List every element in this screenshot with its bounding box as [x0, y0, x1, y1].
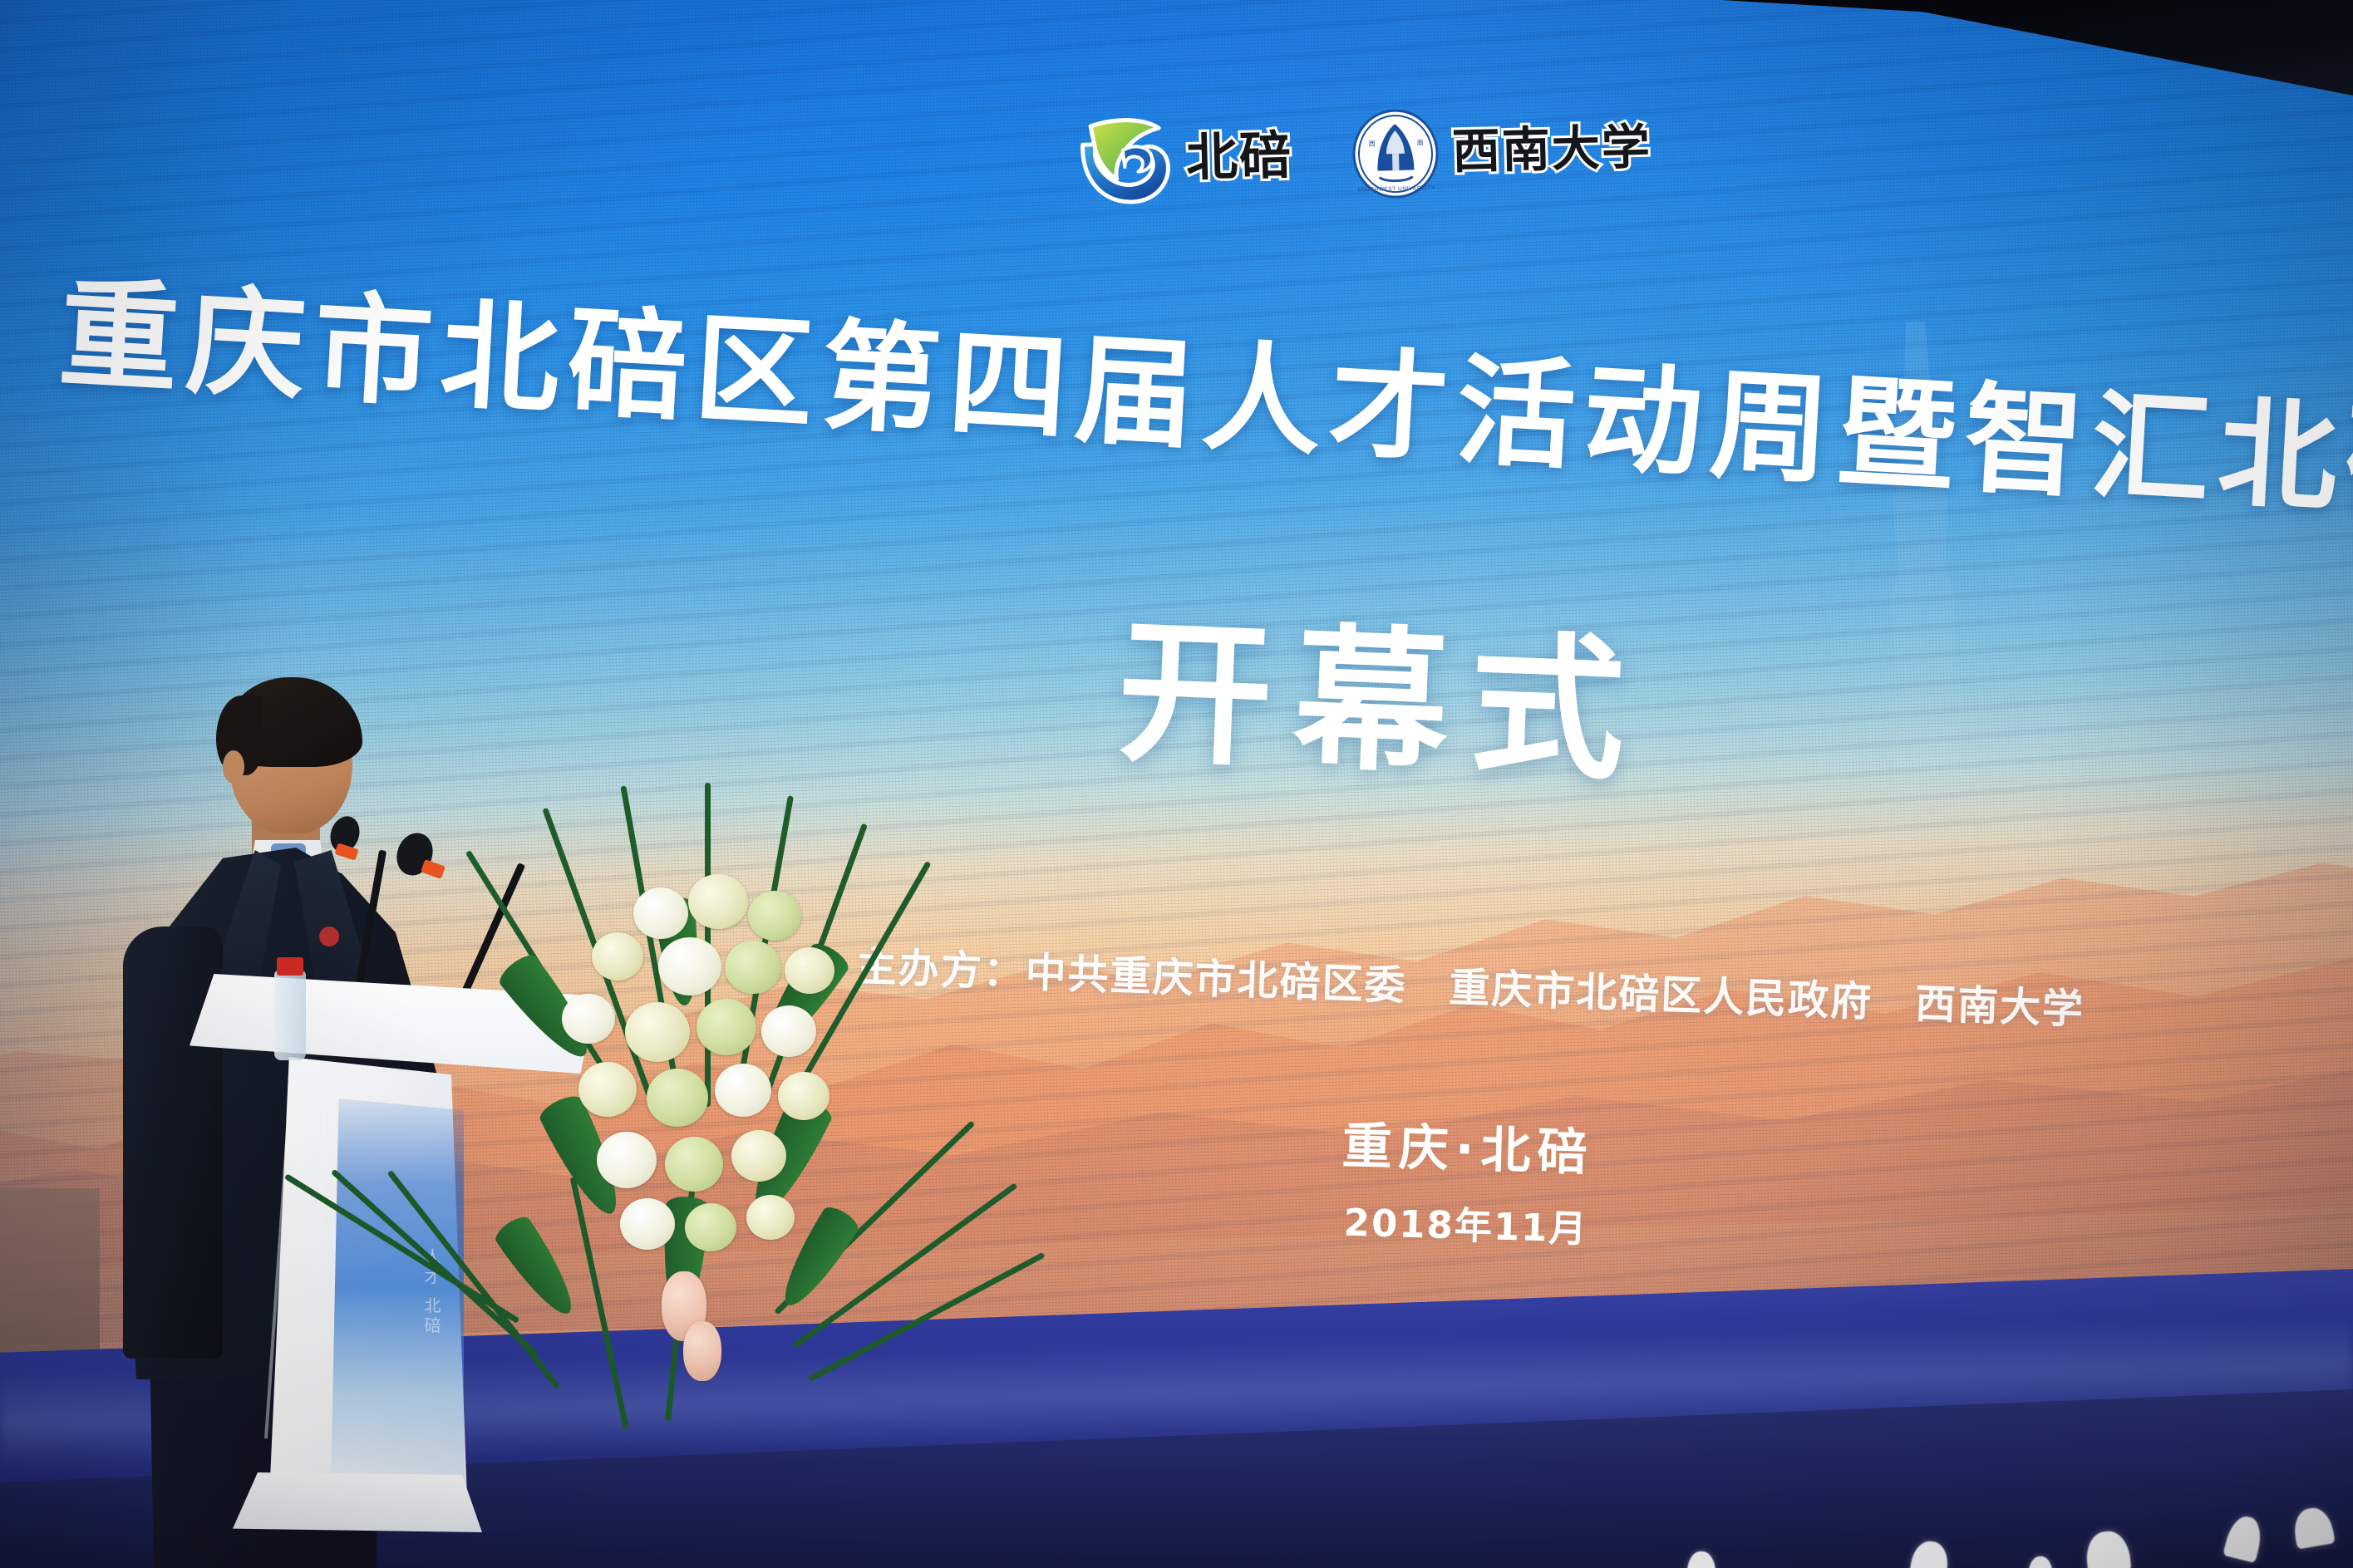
svg-text:西: 西: [1369, 140, 1376, 148]
stage-screenshot: 北碚 SOUTHWEST UNIVERSITY 西 南 西南大学 重庆: [0, 0, 2353, 1568]
flower-bloom: [748, 891, 801, 941]
water-bottle: [274, 971, 306, 1060]
flower-bloom: [731, 1130, 786, 1182]
svg-text:南: 南: [1417, 138, 1424, 146]
flower-bloom: [597, 1132, 657, 1188]
flower-bloom: [647, 1069, 708, 1127]
event-title-line2-wrap: 开幕式: [1115, 615, 1649, 789]
flower-bloom: [746, 1195, 795, 1240]
flower-bloom: [620, 1198, 675, 1250]
flower-arrangement: [416, 839, 864, 1438]
event-title-line2: 开幕式: [1115, 615, 1649, 789]
beibei-swoosh-icon: [1076, 113, 1176, 209]
swu-wordmark: 西南大学: [1451, 124, 1652, 177]
flower-bloom: [683, 1321, 721, 1381]
flower-bloom: [688, 874, 748, 929]
flower-bloom: [625, 1002, 690, 1062]
flower-bloom: [725, 941, 781, 994]
flower-bloom: [697, 999, 756, 1055]
beibei-wordmark: 北碚: [1185, 130, 1292, 184]
southwest-university-seal-icon: SOUTHWEST UNIVERSITY 西 南: [1350, 108, 1442, 200]
flower-bloom: [578, 1062, 637, 1117]
beibei-logo: 北碚: [1076, 110, 1294, 208]
place-date-block: 重庆·北碚 2018年11月: [1299, 1118, 1635, 1254]
flower-bloom: [592, 932, 643, 981]
speaker-lapel-badge: [319, 927, 339, 946]
event-date: 2018年11月: [1299, 1191, 1633, 1254]
left-wall-strip: [0, 1188, 100, 1371]
flower-bloom: [665, 1137, 723, 1192]
palm-frond: [570, 1177, 629, 1430]
event-place: 重庆·北碚: [1301, 1118, 1635, 1182]
podium-base: [233, 1472, 482, 1532]
swu-logo: SOUTHWEST UNIVERSITY 西 南 西南大学: [1350, 103, 1653, 200]
flower-bloom: [778, 1072, 829, 1120]
flower-bloom: [562, 994, 615, 1044]
flower-bloom: [785, 947, 834, 994]
flower-bloom: [761, 1005, 816, 1057]
water-bottle-cap: [277, 957, 303, 976]
sponsor-logo-row: 北碚 SOUTHWEST UNIVERSITY 西 南 西南大学: [1076, 101, 1653, 209]
flower-bloom: [715, 1064, 771, 1117]
flower-bloom: [658, 937, 721, 995]
svg-text:SOUTHWEST UNIVERSITY: SOUTHWEST UNIVERSITY: [1357, 185, 1435, 193]
flower-bloom: [633, 887, 688, 939]
green-leaf: [491, 1212, 584, 1325]
speaker-ear: [223, 750, 244, 784]
flower-bloom: [685, 1203, 736, 1251]
